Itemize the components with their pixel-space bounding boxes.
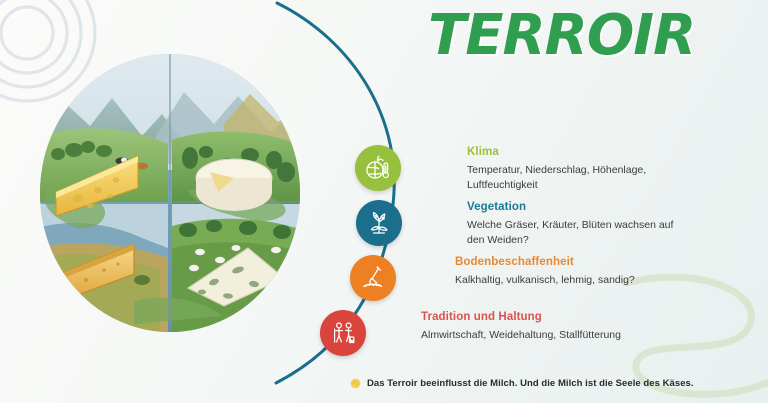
- footer-note: Das Terroir beeinflusst die Milch. Und d…: [350, 378, 694, 389]
- factor-body-tradition: Almwirtschaft, Weidehaltung, Stallfütter…: [421, 328, 621, 343]
- globe-thermometer-icon: [364, 154, 392, 182]
- farmers-people-icon: [329, 319, 357, 347]
- factor-block-tradition: Tradition und Haltung Almwirtschaft, Wei…: [421, 311, 621, 343]
- cheese-wedge-icon: [350, 378, 361, 389]
- factor-body-boden: Kalkhaltig, vulkanisch, lehmig, sandig?: [455, 273, 635, 288]
- factor-heading-tradition: Tradition und Haltung: [421, 311, 621, 323]
- badge-klima[interactable]: [355, 145, 401, 191]
- factor-heading-boden: Bodenbeschaffenheit: [455, 256, 635, 268]
- page-title: TERROIR: [428, 8, 695, 64]
- factor-block-vegetation: Vegetation Welche Gräser, Kräuter, Blüte…: [467, 201, 687, 248]
- factor-heading-klima: Klima: [467, 146, 687, 158]
- shovel-soil-icon: [359, 264, 387, 292]
- badge-boden[interactable]: [350, 255, 396, 301]
- factor-body-vegetation: Welche Gräser, Kräuter, Blüten wachsen a…: [467, 218, 687, 248]
- factor-block-klima: Klima Temperatur, Niederschlag, Höhenlag…: [467, 146, 687, 193]
- terroir-globe-illustration: [38, 52, 302, 334]
- factor-heading-vegetation: Vegetation: [467, 201, 687, 213]
- factor-block-boden: Bodenbeschaffenheit Kalkhaltig, vulkanis…: [455, 256, 635, 288]
- herbs-plants-icon: [365, 209, 393, 237]
- globe-svg: [38, 52, 302, 334]
- badge-tradition[interactable]: [320, 310, 366, 356]
- badge-vegetation[interactable]: [356, 200, 402, 246]
- factor-body-klima: Temperatur, Niederschlag, Höhenlage, Luf…: [467, 163, 687, 193]
- infographic-canvas: TERROIR Klima Temperatur, Niederschlag, …: [0, 0, 768, 403]
- footer-text: Das Terroir beeinflusst die Milch. Und d…: [367, 378, 694, 389]
